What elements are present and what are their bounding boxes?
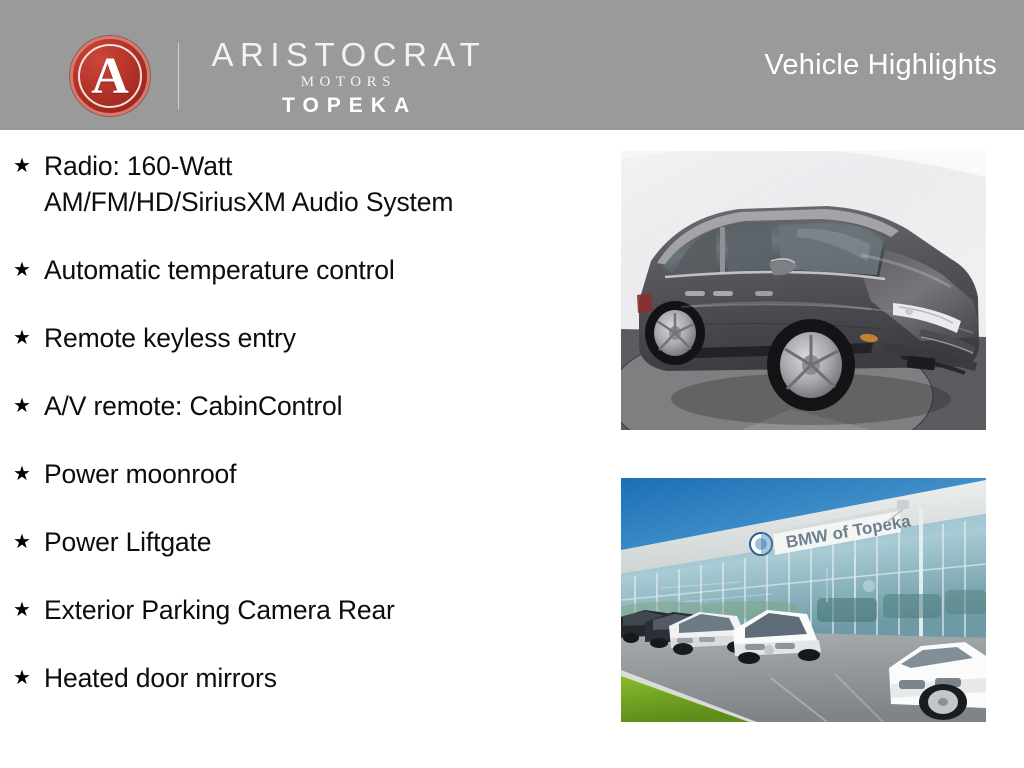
list-item-label: Heated door mirrors: [44, 660, 277, 696]
star-bullet-icon: ★: [13, 524, 44, 560]
list-item: ★ Automatic temperature control: [0, 252, 605, 288]
list-item: ★ Heated door mirrors: [0, 660, 605, 696]
list-item: ★ A/V remote: CabinControl: [0, 388, 605, 424]
logo-divider: [178, 43, 179, 109]
list-item-label: Power Liftgate: [44, 524, 211, 560]
list-item: ★ Exterior Parking Camera Rear: [0, 592, 605, 628]
star-bullet-icon: ★: [13, 660, 44, 696]
list-item: ★ Radio: 160-Watt AM/FM/HD/SiriusXM Audi…: [0, 148, 605, 220]
page-title: Vehicle Highlights: [764, 0, 997, 130]
list-item-label: Radio: 160-Watt AM/FM/HD/SiriusXM Audio …: [44, 148, 453, 220]
star-bullet-icon: ★: [13, 456, 44, 492]
page-header: A ARISTOCRAT MOTORS TOPEKA Vehicle Highl…: [0, 0, 1024, 130]
list-item: ★ Power Liftgate: [0, 524, 605, 560]
list-item: ★ Power moonroof: [0, 456, 605, 492]
star-bullet-icon: ★: [13, 252, 44, 288]
list-item-label: Automatic temperature control: [44, 252, 395, 288]
brand-subtitle: MOTORS: [295, 75, 396, 90]
list-item-label: Power moonroof: [44, 456, 236, 492]
star-bullet-icon: ★: [13, 592, 44, 628]
list-item-label: Remote keyless entry: [44, 320, 296, 356]
dealership-photo: BMW of Topeka: [621, 478, 986, 722]
list-item-label: A/V remote: CabinControl: [44, 388, 342, 424]
vehicle-photo: [621, 151, 986, 430]
list-item: ★ Remote keyless entry: [0, 320, 605, 356]
brand-city: TOPEKA: [274, 95, 417, 116]
star-bullet-icon: ★: [13, 388, 44, 424]
list-item-label: Exterior Parking Camera Rear: [44, 592, 395, 628]
emblem-letter: A: [91, 51, 129, 103]
star-bullet-icon: ★: [13, 320, 44, 356]
brand-wordmark: ARISTOCRAT MOTORS TOPEKA: [205, 36, 486, 117]
aristocrat-emblem-icon: A: [70, 36, 150, 116]
brand-name: ARISTOCRAT: [205, 38, 486, 73]
vehicle-photo-graphic: [621, 151, 986, 430]
star-bullet-icon: ★: [13, 148, 44, 184]
dealership-logo: A ARISTOCRAT MOTORS TOPEKA: [70, 28, 486, 124]
dealership-photo-graphic: BMW of Topeka: [621, 478, 986, 722]
vehicle-highlights-list: ★ Radio: 160-Watt AM/FM/HD/SiriusXM Audi…: [0, 130, 605, 768]
